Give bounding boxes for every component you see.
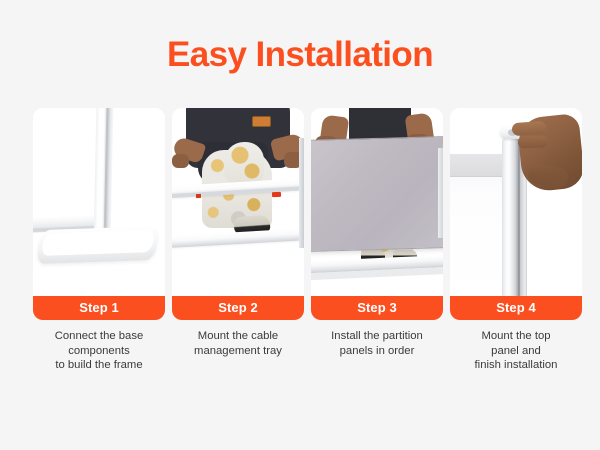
step-caption-1: Connect the base components to build the… xyxy=(33,329,165,373)
steps-row: Step 1 Connect the base components to bu… xyxy=(33,108,567,373)
step-caption-1-line-3: to build the frame xyxy=(33,358,165,373)
step-caption-4-line-1: Mount the top xyxy=(450,329,582,344)
installation-infographic: Easy Installation Step 1 Connect the bas… xyxy=(0,0,600,450)
partition-panel-graphic xyxy=(311,136,443,252)
shirt-logo-graphic xyxy=(252,116,271,127)
step-caption-2-line-2: management tray xyxy=(172,344,304,359)
step-photo-1 xyxy=(33,108,165,296)
step-photo-4 xyxy=(450,108,582,296)
step-caption-3: Install the partition panels in order xyxy=(311,329,443,358)
step-badge-2: Step 2 xyxy=(172,296,304,320)
step-card-2[interactable]: Step 2 Mount the cable management tray xyxy=(172,108,304,373)
step-caption-4-line-2: panel and xyxy=(450,344,582,359)
step-photo-2 xyxy=(172,108,304,296)
step-badge-3: Step 3 xyxy=(311,296,443,320)
step-caption-1-line-1: Connect the base xyxy=(33,329,165,344)
step-badge-1: Step 1 xyxy=(33,296,165,320)
step-card-1[interactable]: Step 1 Connect the base components to bu… xyxy=(33,108,165,373)
step-caption-2: Mount the cable management tray xyxy=(172,329,304,358)
step-caption-1-line-2: components xyxy=(33,344,165,359)
step-caption-4-line-3: finish installation xyxy=(450,358,582,373)
step-caption-3-line-1: Install the partition xyxy=(311,329,443,344)
step-caption-4: Mount the top panel and finish installat… xyxy=(450,329,582,373)
page-title: Easy Installation xyxy=(0,34,600,76)
step-badge-4: Step 4 xyxy=(450,296,582,320)
step-photo-3 xyxy=(311,108,443,296)
step-card-3[interactable]: Step 3 Install the partition panels in o… xyxy=(311,108,443,373)
step-caption-3-line-2: panels in order xyxy=(311,344,443,359)
step-card-4[interactable]: Step 4 Mount the top panel and finish in… xyxy=(450,108,582,373)
step-caption-2-line-1: Mount the cable xyxy=(172,329,304,344)
